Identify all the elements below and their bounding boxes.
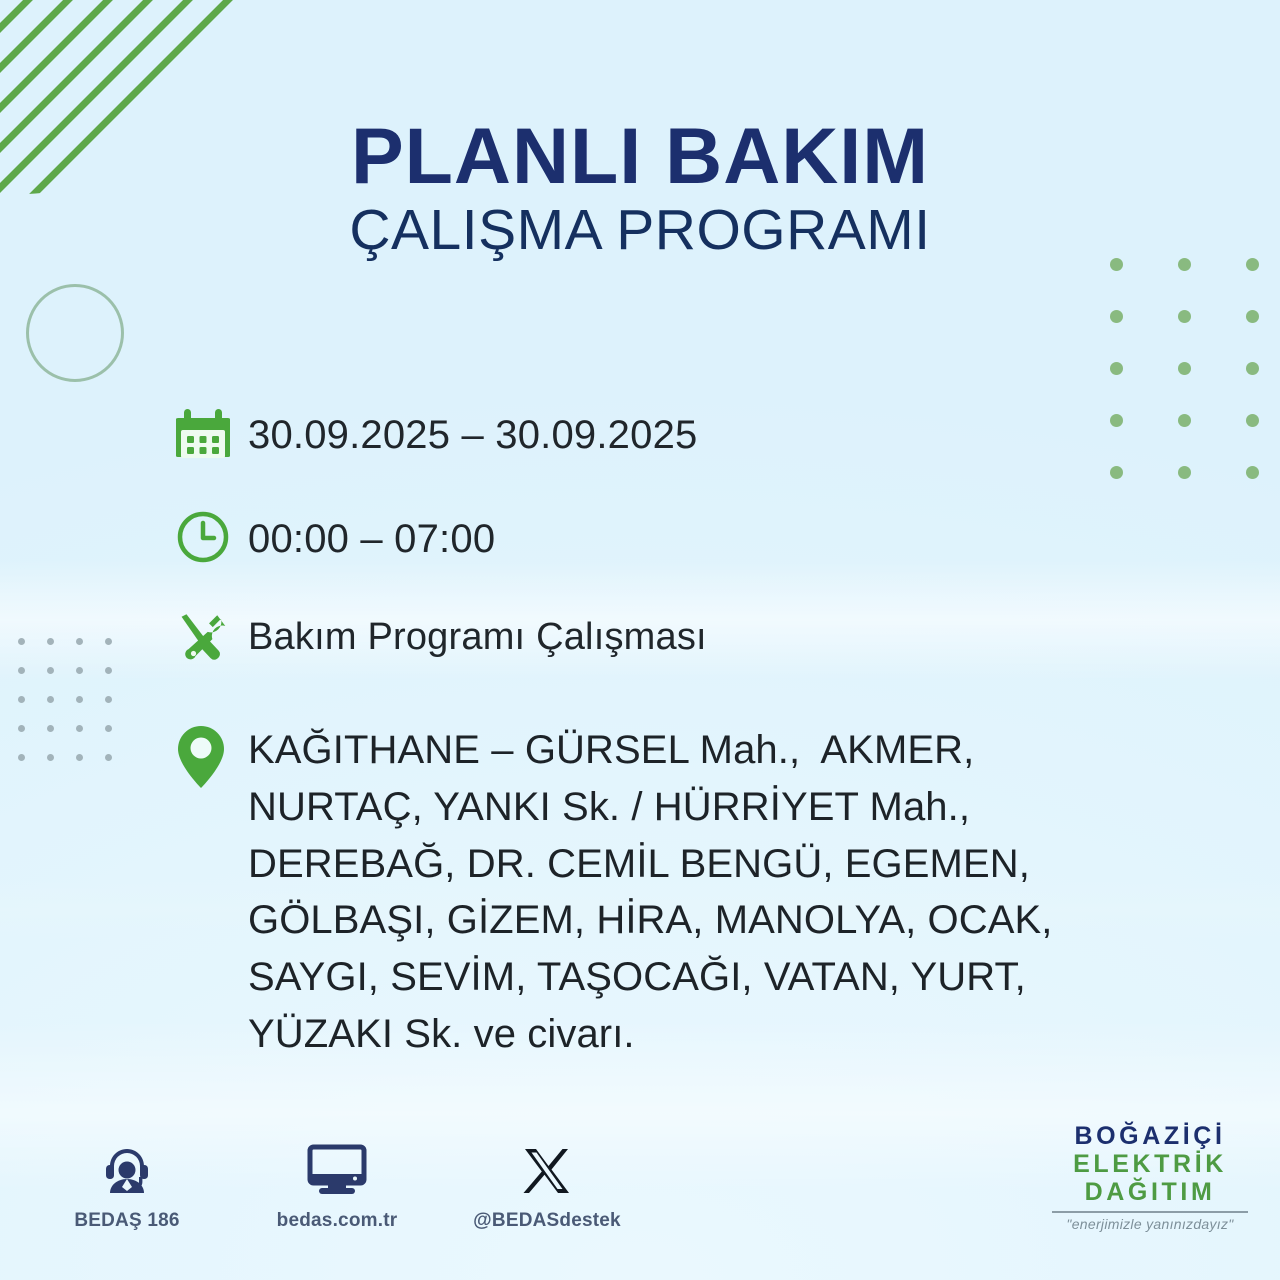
poster-canvas: PLANLI BAKIM ÇALIŞMA PROGRAMI bbox=[0, 0, 1280, 1280]
monitor-icon bbox=[262, 1140, 412, 1202]
clock-icon bbox=[176, 506, 248, 564]
info-row-date: 30.09.2025 – 30.09.2025 bbox=[176, 402, 1176, 506]
address-line: SAYGI, SEVİM, TAŞOCAĞI, VATAN, YURT, bbox=[248, 949, 1053, 1006]
logo-divider bbox=[1052, 1211, 1248, 1213]
page-subtitle: ÇALIŞMA PROGRAMI bbox=[0, 201, 1280, 261]
poster-footer: BEDAŞ 186 bedas.com.tr bbox=[0, 1140, 1280, 1280]
time-range-text: 00:00 – 07:00 bbox=[248, 506, 495, 564]
address-line: YÜZAKI Sk. ve civarı. bbox=[248, 1006, 1053, 1063]
address-line: DEREBAĞ, DR. CEMİL BENGÜ, EGEMEN, bbox=[248, 836, 1053, 893]
page-title: PLANLI BAKIM bbox=[0, 118, 1280, 195]
circle-outline-decoration bbox=[26, 284, 124, 382]
poster-header: PLANLI BAKIM ÇALIŞMA PROGRAMI bbox=[0, 118, 1280, 260]
date-range-text: 30.09.2025 – 30.09.2025 bbox=[248, 402, 697, 460]
x-twitter-icon bbox=[472, 1140, 622, 1202]
logo-line-elektrik: ELEKTRİK bbox=[1042, 1150, 1258, 1178]
map-pin-icon bbox=[176, 710, 248, 790]
contact-x-account[interactable]: @BEDASdestek bbox=[472, 1140, 622, 1232]
contact-label: @BEDASdestek bbox=[472, 1210, 622, 1232]
logo-tagline: "enerjimizle yanınızdayız" bbox=[1042, 1216, 1258, 1232]
address-line: KAĞITHANE – GÜRSEL Mah., AKMER, bbox=[248, 722, 1053, 779]
logo-line-bogazici: BOĞAZİÇİ bbox=[1042, 1122, 1258, 1150]
contact-channels: BEDAŞ 186 bedas.com.tr bbox=[52, 1140, 622, 1232]
work-type-text: Bakım Programı Çalışması bbox=[248, 606, 707, 662]
info-row-time: 00:00 – 07:00 bbox=[176, 506, 1176, 606]
info-row-location: KAĞITHANE – GÜRSEL Mah., AKMER, NURTAÇ, … bbox=[176, 710, 1176, 1063]
contact-call-center[interactable]: BEDAŞ 186 bbox=[52, 1140, 202, 1232]
info-row-work-type: Bakım Programı Çalışması bbox=[176, 606, 1176, 710]
address-line: GÖLBAŞI, GİZEM, HİRA, MANOLYA, OCAK, bbox=[248, 892, 1053, 949]
address-text: KAĞITHANE – GÜRSEL Mah., AKMER, NURTAÇ, … bbox=[248, 710, 1053, 1063]
outage-info-block: 30.09.2025 – 30.09.2025 00:00 – 07:00 bbox=[176, 402, 1176, 1063]
tools-icon bbox=[176, 606, 248, 666]
bedas-logo: BOĞAZİÇİ ELEKTRİK DAĞITIM "enerjimizle y… bbox=[1042, 1122, 1258, 1232]
contact-website[interactable]: bedas.com.tr bbox=[262, 1140, 412, 1232]
logo-line-dagitim: DAĞITIM bbox=[1042, 1178, 1258, 1206]
contact-label: bedas.com.tr bbox=[262, 1210, 412, 1232]
calendar-icon bbox=[176, 402, 248, 462]
headset-support-icon bbox=[52, 1140, 202, 1202]
address-line: NURTAÇ, YANKI Sk. / HÜRRİYET Mah., bbox=[248, 779, 1053, 836]
contact-label: BEDAŞ 186 bbox=[52, 1210, 202, 1232]
dot-grid-left-decoration bbox=[18, 638, 134, 783]
